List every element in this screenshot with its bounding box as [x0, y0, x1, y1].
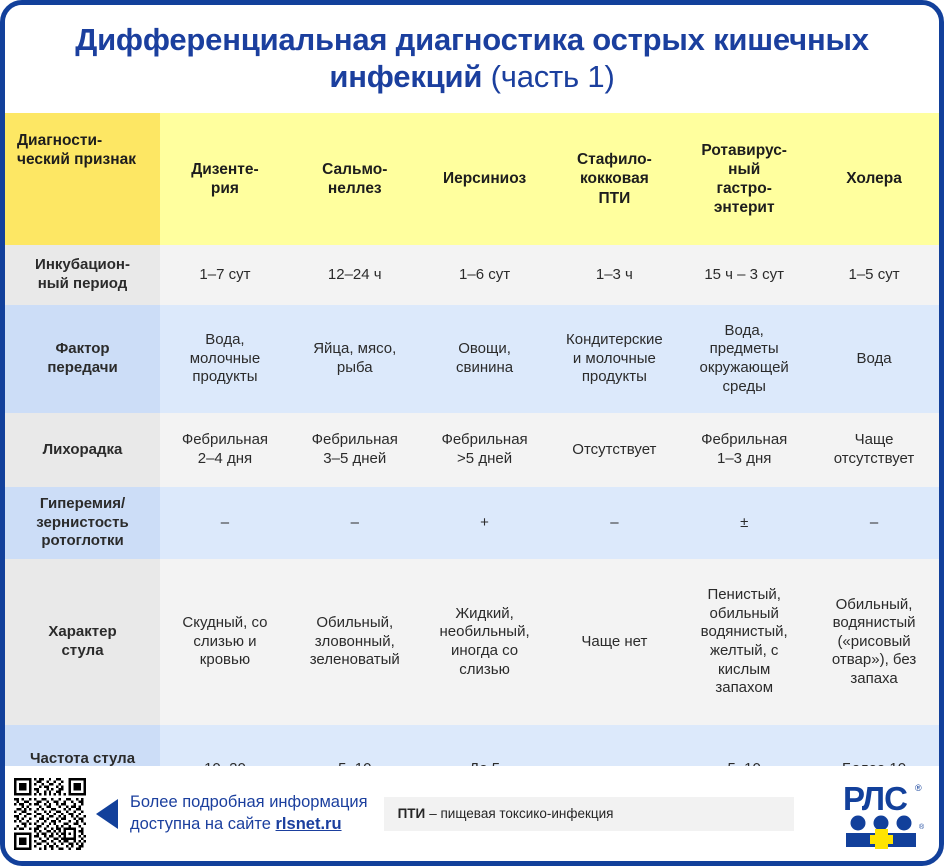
- column-header-sign: Диагности- ческий признак: [5, 113, 160, 245]
- cell-hyperemia-staph-pti: –: [549, 487, 679, 559]
- cell-fever-salmonellosis: Фебрильная 3–5 дней: [290, 413, 420, 487]
- differential-diagnosis-table: Диагности- ческий признак Дизенте- рия С…: [5, 113, 939, 813]
- cell-fever-staph-pti: Отсутствует: [549, 413, 679, 487]
- cell-transmission-salmonellosis: Яйца, мясо, рыба: [290, 305, 420, 413]
- cell-fever-cholera: Чаще отсутствует: [809, 413, 939, 487]
- cell-fever-dysentery: Фебрильная 2–4 дня: [160, 413, 290, 487]
- footer: Более подробная информация доступна на с…: [5, 766, 939, 861]
- cell-transmission-staph-pti: Кондитерские и молочные продукты: [549, 305, 679, 413]
- cell-hyperemia-salmonellosis: –: [290, 487, 420, 559]
- svg-text:РЛС: РЛС: [843, 780, 907, 817]
- cell-stool-character-yersiniosis: Жидкий, необильный, иногда со слизью: [420, 559, 550, 725]
- cell-incubation-staph-pti: 1–3 ч: [549, 245, 679, 305]
- rls-logo[interactable]: РЛС ® ®: [841, 779, 927, 849]
- cell-stool-character-rotavirus: Пенистый, обильный водянистый, желтый, с…: [679, 559, 809, 725]
- cell-incubation-salmonellosis: 12–24 ч: [290, 245, 420, 305]
- cell-stool-character-salmonellosis: Обильный, зловонный, зеленоватый: [290, 559, 420, 725]
- more-info-line2: доступна на сайте rlsnet.ru: [130, 814, 368, 835]
- cell-incubation-rotavirus: 15 ч – 3 сут: [679, 245, 809, 305]
- page-title-part: (часть 1): [491, 59, 615, 94]
- more-info-prefix: доступна на сайте: [130, 815, 276, 833]
- cell-fever-rotavirus: Фебрильная 1–3 дня: [679, 413, 809, 487]
- column-header-staph-pti: Стафило- кокковая ПТИ: [549, 113, 679, 245]
- table-row: Гиперемия/ зернистость ротоглотки – – + …: [5, 487, 939, 559]
- cell-incubation-cholera: 1–5 сут: [809, 245, 939, 305]
- page-title: Дифференциальная диагностика острых кише…: [5, 5, 939, 113]
- page-title-text: Дифференциальная диагностика острых кише…: [45, 22, 899, 95]
- abbreviation-term: ПТИ: [398, 806, 426, 821]
- table-row: Характер стула Скудный, со слизью и кров…: [5, 559, 939, 725]
- cell-stool-character-staph-pti: Чаще нет: [549, 559, 679, 725]
- cell-stool-character-dysentery: Скудный, со слизью и кровью: [160, 559, 290, 725]
- cell-hyperemia-rotavirus: ±: [679, 487, 809, 559]
- abbreviation-definition: – пищевая токсико-инфекция: [429, 806, 613, 821]
- site-link[interactable]: rlsnet.ru: [276, 815, 342, 833]
- cell-stool-character-cholera: Обильный, водянистый («рисовый отвар»), …: [809, 559, 939, 725]
- more-info-text[interactable]: Более подробная информация доступна на с…: [130, 792, 368, 835]
- cell-hyperemia-yersiniosis: +: [420, 487, 550, 559]
- column-header-cholera: Холера: [809, 113, 939, 245]
- cell-transmission-dysentery: Вода, молочные продукты: [160, 305, 290, 413]
- row-label-stool-character: Характер стула: [5, 559, 160, 725]
- table-header-row: Диагности- ческий признак Дизенте- рия С…: [5, 113, 939, 245]
- poster-frame: Дифференциальная диагностика острых кише…: [0, 0, 944, 866]
- cell-hyperemia-dysentery: –: [160, 487, 290, 559]
- cell-transmission-yersiniosis: Овощи, свинина: [420, 305, 550, 413]
- column-header-rotavirus: Ротавирус- ный гастро- энтерит: [679, 113, 809, 245]
- left-triangle-icon: [96, 799, 118, 829]
- cell-hyperemia-cholera: –: [809, 487, 939, 559]
- page-title-main: Дифференциальная диагностика острых кише…: [75, 22, 869, 94]
- cell-transmission-cholera: Вода: [809, 305, 939, 413]
- cell-incubation-dysentery: 1–7 сут: [160, 245, 290, 305]
- row-label-incubation: Инкубацион- ный период: [5, 245, 160, 305]
- row-label-fever: Лихорадка: [5, 413, 160, 487]
- qr-code-icon[interactable]: [14, 778, 86, 850]
- table-row: Фактор передачи Вода, молочные продукты …: [5, 305, 939, 413]
- row-label-hyperemia: Гиперемия/ зернистость ротоглотки: [5, 487, 160, 559]
- cell-incubation-yersiniosis: 1–6 сут: [420, 245, 550, 305]
- table-row: Лихорадка Фебрильная 2–4 дня Фебрильная …: [5, 413, 939, 487]
- abbreviation-note: ПТИ – пищевая токсико-инфекция: [384, 797, 794, 831]
- cell-transmission-rotavirus: Вода, предметы окружающей среды: [679, 305, 809, 413]
- table-row: Инкубацион- ный период 1–7 сут 12–24 ч 1…: [5, 245, 939, 305]
- row-label-transmission: Фактор передачи: [5, 305, 160, 413]
- column-header-salmonellosis: Сальмо- неллез: [290, 113, 420, 245]
- more-info-line1: Более подробная информация: [130, 792, 368, 813]
- column-header-yersiniosis: Иерсиниоз: [420, 113, 550, 245]
- svg-text:®: ®: [915, 783, 922, 793]
- column-header-dysentery: Дизенте- рия: [160, 113, 290, 245]
- cell-fever-yersiniosis: Фебрильная >5 дней: [420, 413, 550, 487]
- svg-text:®: ®: [919, 823, 925, 831]
